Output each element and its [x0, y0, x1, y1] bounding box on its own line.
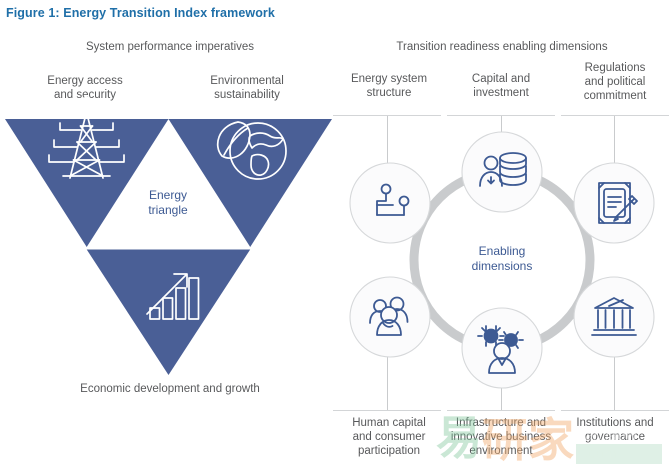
left-panel-heading: System performance imperatives	[0, 41, 340, 53]
page-title: Figure 1: Energy Transition Index framew…	[6, 6, 275, 20]
triangle-segment-energy-access	[5, 119, 169, 247]
triangle-center-label: Energy triangle	[118, 188, 218, 218]
triangle-diagram	[0, 60, 340, 400]
wheel-center-label: Enabling dimensions	[447, 244, 557, 274]
triangle-label-economic-development: Economic development and growth	[20, 382, 320, 396]
node-energy-system-structure[interactable]	[350, 163, 430, 243]
figure-root: Figure 1: Energy Transition Index framew…	[0, 0, 671, 473]
wheel-center-line2: dimensions	[447, 259, 557, 274]
triangle-center-line2: triangle	[118, 203, 218, 218]
triangle-segments	[5, 119, 332, 375]
triangle-center-line1: Energy	[118, 188, 218, 203]
enabling-dimensions-group: Energy system structure Capital and inve…	[333, 60, 671, 473]
right-panel-heading: Transition readiness enabling dimensions	[333, 41, 671, 53]
triangle-label-economic-line1: Economic development and growth	[20, 382, 320, 396]
wheel-center-line1: Enabling	[447, 244, 557, 259]
node-capital-and-investment[interactable]	[462, 132, 542, 212]
triangle-segment-economic	[87, 250, 251, 376]
energy-triangle-group: Energy access and security Environmental…	[0, 60, 340, 400]
node-regulations-and-political-commitment[interactable]	[574, 163, 654, 243]
